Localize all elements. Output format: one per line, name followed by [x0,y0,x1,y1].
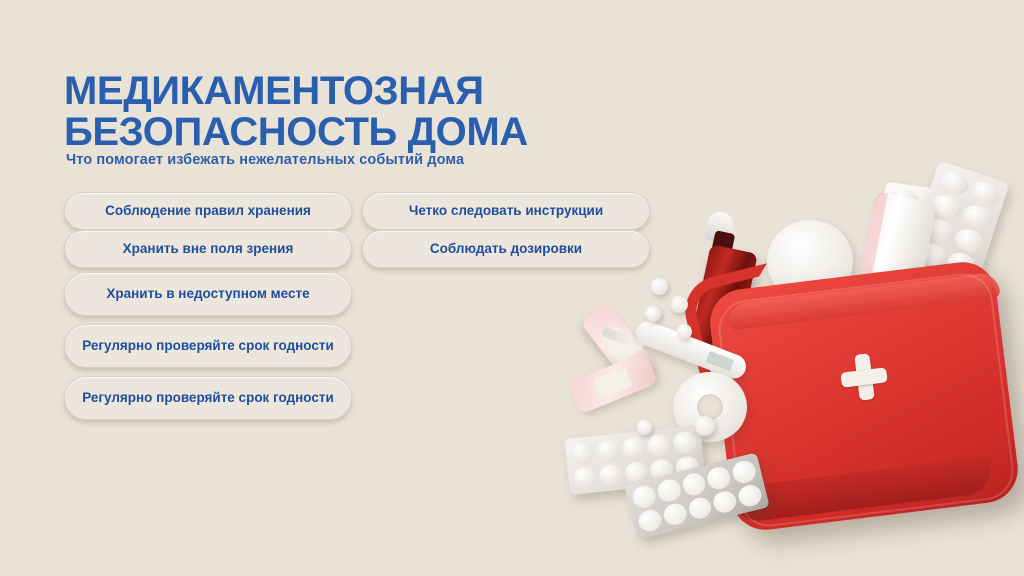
loose-pill-icon [651,278,668,295]
loose-pill-icon [695,416,715,436]
slide-canvas: МЕДИКАМЕНТОЗНАЯ БЕЗОПАСНОСТЬ ДОМА Что по… [0,0,1024,576]
medical-cross-icon [838,351,889,402]
chip-check-expiry-2[interactable]: Регулярно проверяйте срок годности [64,376,352,420]
loose-pill-icon [637,420,652,435]
loose-pill-icon [645,306,661,322]
loose-pill-icon [677,324,692,339]
chip-storage-rules[interactable]: Соблюдение правил хранения [64,192,352,230]
loose-pill-icon [671,296,688,313]
chip-inaccessible-place[interactable]: Хранить в недоступном месте [64,272,352,316]
chip-out-of-sight[interactable]: Хранить вне поля зрения [64,230,352,268]
first-aid-illustration [545,120,1024,576]
chip-check-expiry-1[interactable]: Регулярно проверяйте срок годности [64,324,352,368]
